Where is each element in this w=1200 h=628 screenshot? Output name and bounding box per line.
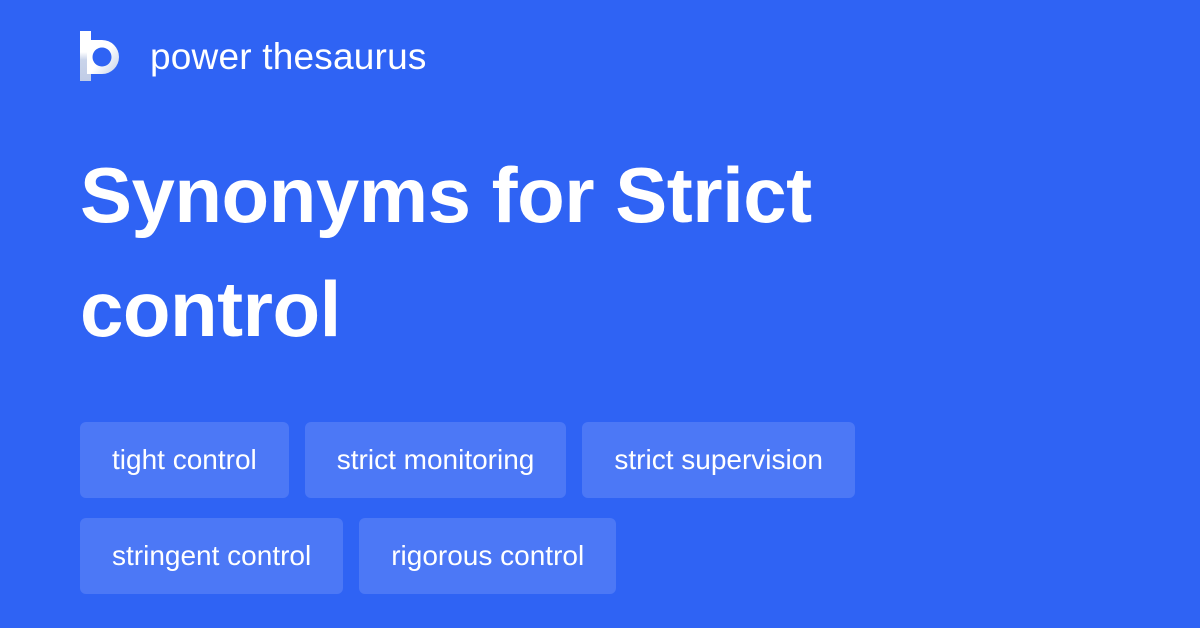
synonym-chip[interactable]: rigorous control <box>359 518 616 594</box>
synonym-chip-label: strict supervision <box>614 446 823 474</box>
brand-header[interactable]: power thesaurus <box>80 28 427 84</box>
synonym-chip-label: strict monitoring <box>337 446 535 474</box>
synonym-chip[interactable]: stringent control <box>80 518 343 594</box>
synonym-chip-list: tight control strict monitoring strict s… <box>80 422 1120 594</box>
synonym-chip-label: tight control <box>112 446 257 474</box>
share-card: power thesaurus Synonyms for Strict cont… <box>0 0 1200 628</box>
synonym-chip[interactable]: strict supervision <box>582 422 855 498</box>
synonym-chip[interactable]: strict monitoring <box>305 422 567 498</box>
brand-name: power thesaurus <box>150 38 427 75</box>
synonym-chip-label: rigorous control <box>391 542 584 570</box>
synonym-chip-label: stringent control <box>112 542 311 570</box>
power-thesaurus-b-logo-icon <box>80 31 126 81</box>
synonym-chip[interactable]: tight control <box>80 422 289 498</box>
page-title-line-2: control <box>80 252 1120 366</box>
page-title: Synonyms for Strict control <box>80 138 1120 366</box>
page-title-line-1: Synonyms for Strict <box>80 138 1120 252</box>
